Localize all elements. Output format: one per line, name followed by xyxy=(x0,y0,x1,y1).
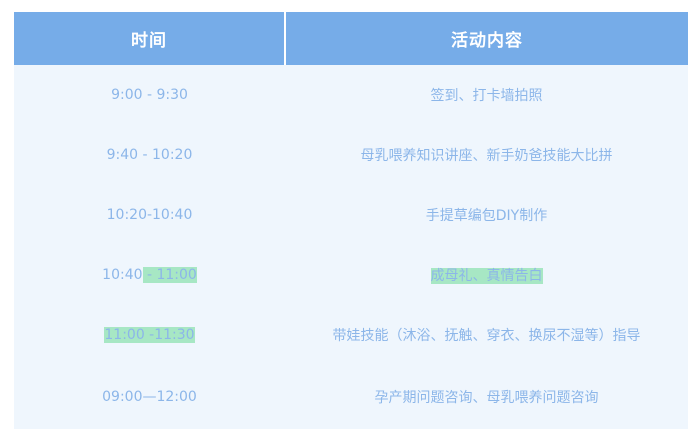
time-text: 9:00 - 9:30 xyxy=(111,87,188,103)
schedule-table-container: 时间 活动内容 9:00 - 9:30 签到、打卡墙拍照 9:40 - 10:2… xyxy=(14,12,686,424)
table-header: 时间 活动内容 xyxy=(14,12,688,65)
time-text: 10:40 xyxy=(102,267,142,283)
time-text-selected: 11:00 -11:30 xyxy=(104,327,194,343)
table-row: 9:40 - 10:20 母乳喂养知识讲座、新手奶爸技能大比拼 xyxy=(14,125,688,185)
cell-time: 9:40 - 10:20 xyxy=(14,125,285,185)
table-row: 9:00 - 9:30 签到、打卡墙拍照 xyxy=(14,65,688,125)
time-text: 10:20-10:40 xyxy=(107,207,193,223)
table-row: 09:00—12:00 孕产期问题咨询、母乳喂养问题咨询 xyxy=(14,365,688,429)
cell-activity: 母乳喂养知识讲座、新手奶爸技能大比拼 xyxy=(285,125,688,185)
column-header-time: 时间 xyxy=(14,12,285,65)
activity-text: 带娃技能（沐浴、抚触、穿衣、换尿不湿等）指导 xyxy=(333,328,641,344)
time-text: 09:00—12:00 xyxy=(102,389,197,405)
cell-activity: 签到、打卡墙拍照 xyxy=(285,65,688,125)
table-row: 10:40 - 11:00 成母礼、真情告白 xyxy=(14,245,688,305)
cell-time: 10:20-10:40 xyxy=(14,185,285,245)
table-header-row: 时间 活动内容 xyxy=(14,12,688,65)
activity-text: 手提草编包DIY制作 xyxy=(426,208,547,224)
activity-text: 签到、打卡墙拍照 xyxy=(431,88,543,104)
activity-text-selected: 成母礼、真情告白 xyxy=(431,268,543,284)
column-header-activity: 活动内容 xyxy=(285,12,688,65)
activity-schedule-table: 时间 活动内容 9:00 - 9:30 签到、打卡墙拍照 9:40 - 10:2… xyxy=(14,12,688,429)
cell-time: 10:40 - 11:00 xyxy=(14,245,285,305)
cell-time: 11:00 -11:30 xyxy=(14,305,285,365)
activity-text: 母乳喂养知识讲座、新手奶爸技能大比拼 xyxy=(361,148,613,164)
cell-time: 9:00 - 9:30 xyxy=(14,65,285,125)
cell-activity: 孕产期问题咨询、母乳喂养问题咨询 xyxy=(285,365,688,429)
activity-text: 孕产期问题咨询、母乳喂养问题咨询 xyxy=(375,390,599,406)
cell-time: 09:00—12:00 xyxy=(14,365,285,429)
cell-activity: 手提草编包DIY制作 xyxy=(285,185,688,245)
table-body: 9:00 - 9:30 签到、打卡墙拍照 9:40 - 10:20 母乳喂养知识… xyxy=(14,65,688,429)
cell-activity: 带娃技能（沐浴、抚触、穿衣、换尿不湿等）指导 xyxy=(285,305,688,365)
time-text-selected: - 11:00 xyxy=(143,267,197,283)
table-row: 11:00 -11:30 带娃技能（沐浴、抚触、穿衣、换尿不湿等）指导 xyxy=(14,305,688,365)
time-text: 9:40 - 10:20 xyxy=(107,147,193,163)
cell-activity: 成母礼、真情告白 xyxy=(285,245,688,305)
table-row: 10:20-10:40 手提草编包DIY制作 xyxy=(14,185,688,245)
